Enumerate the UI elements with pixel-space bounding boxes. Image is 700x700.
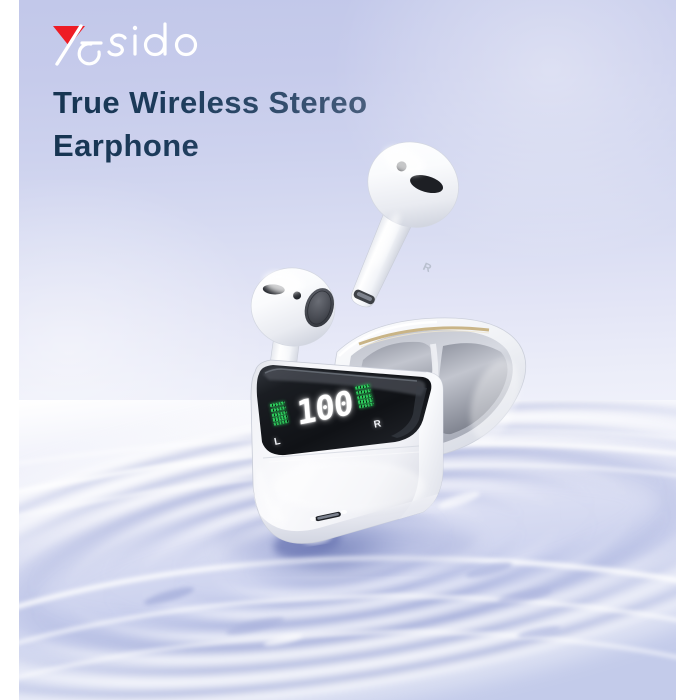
product-poster: 100 L R R [0, 0, 700, 700]
water-ripple-background [19, 400, 676, 700]
right-earbud-stem-mark: R [421, 261, 433, 275]
brand-logo [51, 24, 241, 64]
hinge-pin [359, 328, 489, 344]
speaker-mesh [300, 284, 339, 331]
page-title: True Wireless Stereo Earphone [53, 82, 523, 168]
poster-canvas: 100 L R R [19, 0, 676, 700]
